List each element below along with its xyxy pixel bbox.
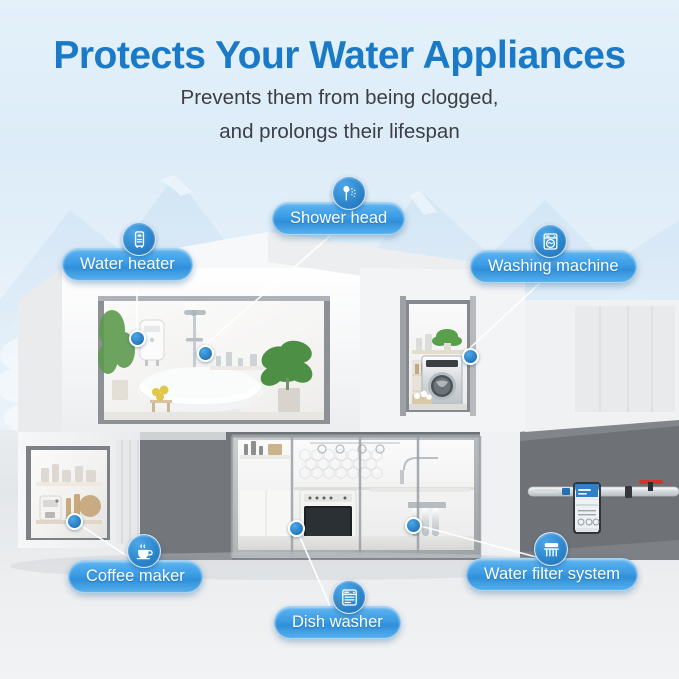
callout-label-water-heater: Water heater	[80, 255, 175, 274]
anchor-dot-dish-washer	[288, 520, 305, 537]
infographic-canvas: Protects Your Water Appliances Prevents …	[0, 0, 679, 679]
coffee-maker-icon	[127, 534, 161, 568]
anchor-dot-water-heater	[129, 330, 146, 347]
callout-label-shower-head: Shower head	[290, 209, 387, 228]
callout-label-washing-machine: Washing machine	[488, 257, 619, 276]
callout-label-coffee-maker: Coffee maker	[86, 567, 185, 586]
callout-label-dish-washer: Dish washer	[292, 613, 383, 632]
callout-pill-dish-washer[interactable]: Dish washer	[274, 606, 401, 639]
anchor-dot-water-filter-system	[405, 517, 422, 534]
anchor-dot-washing-machine	[462, 348, 479, 365]
anchor-dot-shower-head	[197, 345, 214, 362]
water-filter-icon	[534, 532, 568, 566]
callout-pill-water-heater[interactable]: Water heater	[62, 248, 193, 281]
callout-label-water-filter-system: Water filter system	[484, 565, 620, 584]
washing-machine-icon	[533, 224, 567, 258]
subtitle-line-1: Prevents them from being clogged,	[0, 85, 679, 111]
anchor-dot-coffee-maker	[66, 513, 83, 530]
subtitle-line-2: and prolongs their lifespan	[0, 119, 679, 145]
shower-head-icon	[332, 176, 366, 210]
dish-washer-icon	[332, 580, 366, 614]
water-heater-icon	[122, 222, 156, 256]
header: Protects Your Water Appliances Prevents …	[0, 0, 679, 145]
page-title: Protects Your Water Appliances	[0, 36, 679, 77]
